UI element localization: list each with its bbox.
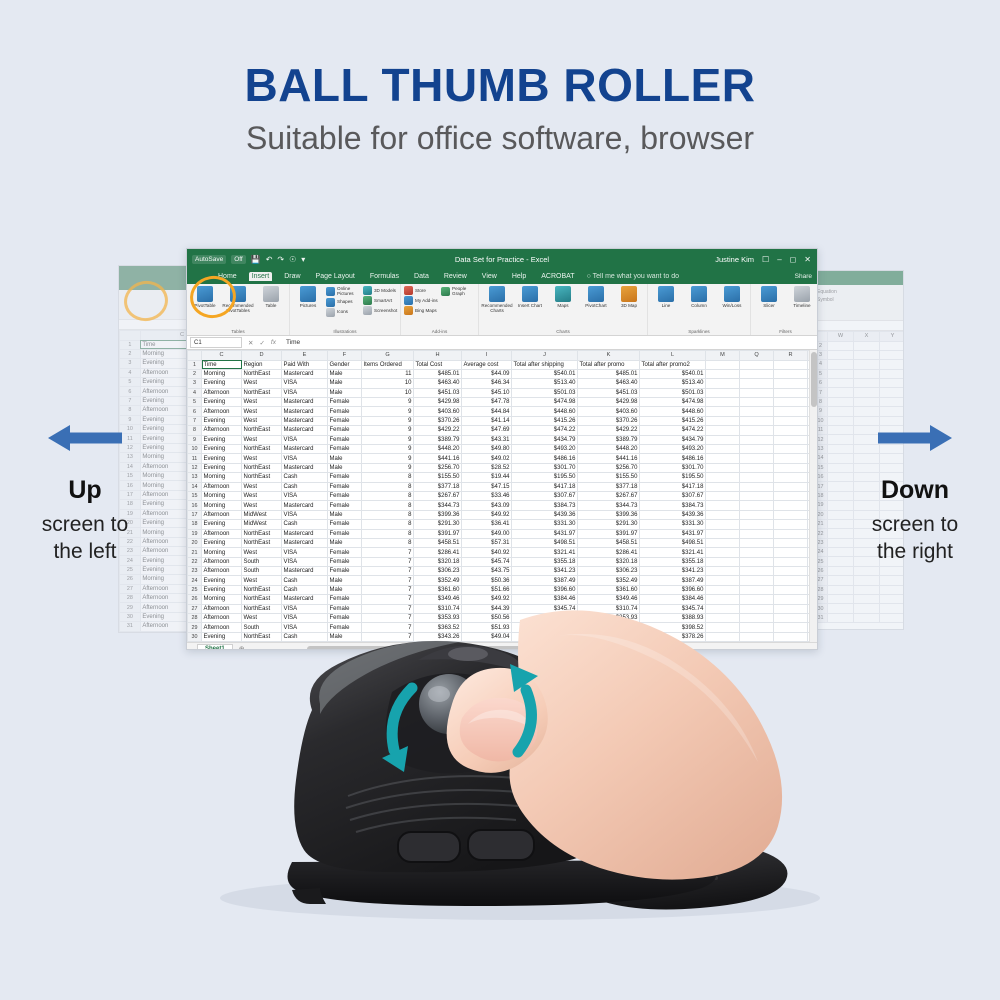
table-cell[interactable]	[706, 407, 740, 416]
table-cell[interactable]: $513.40	[640, 379, 706, 388]
table-cell[interactable]: 9	[362, 416, 414, 425]
table-cell[interactable]: $321.41	[640, 548, 706, 557]
table-cell[interactable]	[854, 369, 880, 378]
table-cell[interactable]: $387.49	[640, 576, 706, 585]
table-cell[interactable]: $331.30	[640, 520, 706, 529]
table-cell[interactable]: VISA	[282, 379, 328, 388]
table-cell[interactable]	[880, 397, 904, 406]
table-cell[interactable]	[828, 369, 854, 378]
table-row[interactable]: 25EveningNorthEastCashMale7$361.60$51.66…	[188, 585, 818, 594]
table-cell[interactable]: Female	[328, 557, 362, 566]
table-cell[interactable]: Morning	[202, 491, 242, 500]
table-cell[interactable]	[740, 567, 774, 576]
table-cell[interactable]: Evening	[202, 576, 242, 585]
table-cell[interactable]: $45.74	[462, 557, 512, 566]
table-cell[interactable]	[774, 491, 808, 500]
ribbon-tab-review[interactable]: Review	[441, 272, 470, 281]
table-cell[interactable]: $384.73	[512, 501, 578, 510]
table-cell[interactable]: $45.10	[462, 388, 512, 397]
table-cell[interactable]: Afternoon	[202, 510, 242, 519]
table-cell[interactable]: $43.31	[462, 435, 512, 444]
table-cell[interactable]: NorthEast	[242, 388, 282, 397]
table-cell[interactable]: $46.34	[462, 379, 512, 388]
row-header-8[interactable]: 8	[120, 406, 141, 415]
row-header-25[interactable]: 25	[120, 565, 141, 574]
table-cell[interactable]	[880, 566, 904, 575]
table-cell[interactable]	[854, 379, 880, 388]
table-cell[interactable]: $431.97	[640, 529, 706, 538]
table-cell[interactable]: $320.18	[414, 557, 462, 566]
vertical-scrollbar[interactable]	[809, 350, 817, 642]
ribbon[interactable]: PivotTableRecommended PivotTablesTableTa…	[187, 284, 817, 336]
row-header-2[interactable]: 2	[120, 349, 141, 358]
user-name[interactable]: Justine Kim	[715, 255, 754, 264]
table-cell[interactable]: $387.49	[512, 576, 578, 585]
table-cell[interactable]	[774, 501, 808, 510]
table-cell[interactable]	[740, 426, 774, 435]
table-cell[interactable]	[828, 360, 854, 369]
table-cell[interactable]	[828, 379, 854, 388]
table-cell[interactable]: Evening	[202, 463, 242, 472]
table-cell[interactable]: Female	[328, 473, 362, 482]
table-row[interactable]: 5EveningWestMastercardFemale9$429.98$47.…	[188, 398, 818, 407]
ribbon-button-shapes[interactable]: Shapes	[326, 298, 360, 307]
table-cell[interactable]	[740, 482, 774, 491]
table-cell[interactable]: $306.23	[578, 567, 640, 576]
table-cell[interactable]	[706, 369, 740, 378]
table-row[interactable]: 22AfternoonSouthVISAFemale7$320.18$45.74…	[188, 557, 818, 566]
table-cell[interactable]	[706, 491, 740, 500]
column-title-cell[interactable]: Items Ordered	[362, 360, 414, 369]
table-cell[interactable]	[706, 557, 740, 566]
table-cell[interactable]: NorthEast	[242, 473, 282, 482]
column-header-I[interactable]: I	[462, 351, 512, 361]
ribbon-button-online-pictures[interactable]: Online Pictures	[326, 286, 360, 297]
table-cell[interactable]: $439.36	[640, 510, 706, 519]
row-header-9[interactable]: 9	[188, 435, 202, 444]
table-cell[interactable]: 8	[362, 538, 414, 547]
table-cell[interactable]: Evening	[202, 435, 242, 444]
table-cell[interactable]: $49.80	[462, 445, 512, 454]
table-row[interactable]: 27	[814, 576, 904, 585]
table-row[interactable]: 23AfternoonSouthMastercardFemale7$306.23…	[188, 567, 818, 576]
ribbon-tab-insert[interactable]: Insert	[249, 272, 273, 281]
table-cell[interactable]: $415.26	[512, 416, 578, 425]
table-cell[interactable]: $57.31	[462, 538, 512, 547]
table-cell[interactable]: South	[242, 557, 282, 566]
table-cell[interactable]: Female	[328, 520, 362, 529]
ribbon-button-recommended-pivottables[interactable]: Recommended PivotTables	[223, 286, 253, 314]
table-cell[interactable]: $321.41	[512, 548, 578, 557]
table-cell[interactable]: West	[242, 407, 282, 416]
table-cell[interactable]	[774, 557, 808, 566]
table-cell[interactable]: $377.18	[414, 482, 462, 491]
table-cell[interactable]: VISA	[282, 435, 328, 444]
ribbon-tab-bar[interactable]: HomeInsertDrawPage LayoutFormulasDataRev…	[187, 269, 817, 284]
table-cell[interactable]: $448.60	[512, 407, 578, 416]
table-cell[interactable]	[774, 482, 808, 491]
table-cell[interactable]	[740, 491, 774, 500]
table-cell[interactable]: $341.23	[640, 567, 706, 576]
table-cell[interactable]: VISA	[282, 548, 328, 557]
row-header-3[interactable]: 3	[188, 379, 202, 388]
table-cell[interactable]	[740, 416, 774, 425]
table-cell[interactable]: $417.18	[640, 482, 706, 491]
table-cell[interactable]	[774, 463, 808, 472]
table-cell[interactable]: $540.01	[512, 369, 578, 378]
table-cell[interactable]: $458.51	[578, 538, 640, 547]
ribbon-button-smartart[interactable]: SmartArt	[363, 296, 397, 305]
table-cell[interactable]: 7	[362, 567, 414, 576]
table-cell[interactable]	[854, 350, 880, 359]
table-cell[interactable]: $474.98	[512, 398, 578, 407]
table-cell[interactable]: $493.20	[640, 445, 706, 454]
table-cell[interactable]: West	[242, 576, 282, 585]
table-cell[interactable]	[828, 341, 854, 350]
row-header-5[interactable]: 5	[188, 398, 202, 407]
table-row[interactable]: 19AfternoonNorthEastMastercardFemale8$39…	[188, 529, 818, 538]
table-cell[interactable]: 10	[362, 388, 414, 397]
table-cell[interactable]: 9	[362, 407, 414, 416]
table-cell[interactable]	[774, 567, 808, 576]
table-cell[interactable]: $399.36	[414, 510, 462, 519]
table-cell[interactable]: $28.52	[462, 463, 512, 472]
table-cell[interactable]	[854, 407, 880, 416]
table-cell[interactable]	[706, 538, 740, 547]
table-cell[interactable]: Female	[328, 482, 362, 491]
table-cell[interactable]	[740, 538, 774, 547]
table-row[interactable]: 18EveningMidWestCashFemale8$291.30$36.41…	[188, 520, 818, 529]
table-cell[interactable]: $415.26	[640, 416, 706, 425]
table-cell[interactable]: Male	[328, 369, 362, 378]
table-cell[interactable]: $498.51	[640, 538, 706, 547]
column-header-W[interactable]: W	[828, 332, 854, 342]
table-cell[interactable]: 8	[362, 473, 414, 482]
table-cell[interactable]: $498.51	[512, 538, 578, 547]
table-cell[interactable]: $195.50	[512, 473, 578, 482]
column-title-cell[interactable]: Total after shipping	[512, 360, 578, 369]
table-cell[interactable]: $40.92	[462, 548, 512, 557]
table-cell[interactable]	[774, 379, 808, 388]
table-row[interactable]: 13MorningNorthEastCashFemale8$155.50$19.…	[188, 473, 818, 482]
row-header-12[interactable]: 12	[188, 463, 202, 472]
column-title-cell[interactable]: Gender	[328, 360, 362, 369]
table-cell[interactable]	[880, 576, 904, 585]
column-header-X[interactable]: X	[854, 332, 880, 342]
row-header-25[interactable]: 25	[188, 585, 202, 594]
column-title-cell[interactable]: Total after promo2	[640, 360, 706, 369]
table-cell[interactable]	[880, 341, 904, 350]
table-cell[interactable]: VISA	[282, 491, 328, 500]
grid-corner[interactable]	[188, 351, 202, 361]
table-cell[interactable]: $286.41	[414, 548, 462, 557]
row-header-2[interactable]: 2	[188, 369, 202, 378]
table-cell[interactable]: $291.30	[414, 520, 462, 529]
table-row[interactable]: 2	[814, 341, 904, 350]
row-header-18[interactable]: 18	[188, 520, 202, 529]
table-cell[interactable]: $448.20	[414, 445, 462, 454]
table-cell[interactable]	[740, 379, 774, 388]
table-cell[interactable]: $429.98	[578, 398, 640, 407]
table-cell[interactable]: $44.84	[462, 407, 512, 416]
table-cell[interactable]: $417.18	[512, 482, 578, 491]
table-cell[interactable]: MidWest	[242, 510, 282, 519]
table-cell[interactable]: $43.75	[462, 567, 512, 576]
table-cell[interactable]	[740, 445, 774, 454]
table-cell[interactable]	[774, 369, 808, 378]
ribbon-tab-data[interactable]: Data	[411, 272, 432, 281]
redo-icon[interactable]: ↷	[277, 255, 284, 264]
table-cell[interactable]: Male	[328, 463, 362, 472]
column-title-cell[interactable]	[706, 360, 740, 369]
table-cell[interactable]: $540.01	[640, 369, 706, 378]
table-cell[interactable]: Female	[328, 501, 362, 510]
table-cell[interactable]	[774, 473, 808, 482]
table-cell[interactable]: $49.00	[462, 529, 512, 538]
table-cell[interactable]: Morning	[202, 501, 242, 510]
table-cell[interactable]: Female	[328, 491, 362, 500]
table-cell[interactable]	[706, 388, 740, 397]
table-cell[interactable]: Mastercard	[282, 463, 328, 472]
table-cell[interactable]: Female	[328, 529, 362, 538]
table-cell[interactable]: $474.22	[512, 426, 578, 435]
table-cell[interactable]: $361.60	[414, 585, 462, 594]
ribbon-button-pivotchart[interactable]: PivotChart	[581, 286, 611, 308]
table-cell[interactable]: Afternoon	[202, 567, 242, 576]
table-cell[interactable]: 11	[362, 369, 414, 378]
table-cell[interactable]: $403.60	[414, 407, 462, 416]
table-cell[interactable]: West	[242, 548, 282, 557]
table-row[interactable]: 12EveningNorthEastMastercardMale9$256.70…	[188, 463, 818, 472]
table-cell[interactable]: Female	[328, 407, 362, 416]
tell-me-box[interactable]: ○ Tell me what you want to do	[587, 273, 679, 280]
table-cell[interactable]: Mastercard	[282, 398, 328, 407]
table-cell[interactable]	[854, 388, 880, 397]
ribbon-button-maps[interactable]: Maps	[548, 286, 578, 308]
table-cell[interactable]: $384.73	[640, 501, 706, 510]
table-cell[interactable]	[774, 416, 808, 425]
table-cell[interactable]: West	[242, 501, 282, 510]
ribbon-tab-help[interactable]: Help	[509, 272, 529, 281]
table-cell[interactable]: $391.97	[578, 529, 640, 538]
ribbon-button-pivottable[interactable]: PivotTable	[190, 286, 220, 308]
ribbon-button-people-graph[interactable]: People Graph	[441, 286, 475, 297]
table-cell[interactable]: Afternoon	[202, 407, 242, 416]
row-header-4[interactable]: 4	[120, 368, 141, 377]
table-row[interactable]: 8AfternoonNorthEastMastercardFemale9$429…	[188, 426, 818, 435]
table-row[interactable]: 2MorningNorthEastMastercardMale11$485.01…	[188, 369, 818, 378]
table-cell[interactable]	[740, 585, 774, 594]
table-cell[interactable]: $286.41	[578, 548, 640, 557]
table-cell[interactable]: 9	[362, 463, 414, 472]
table-cell[interactable]: Female	[328, 445, 362, 454]
table-cell[interactable]: $396.60	[640, 585, 706, 594]
row-header-27[interactable]: 27	[120, 584, 141, 593]
table-cell[interactable]: Evening	[202, 520, 242, 529]
table-cell[interactable]: NorthEast	[242, 369, 282, 378]
column-header-H[interactable]: H	[414, 351, 462, 361]
table-cell[interactable]: $429.98	[414, 398, 462, 407]
table-cell[interactable]	[880, 379, 904, 388]
column-title-cell[interactable]: Region	[242, 360, 282, 369]
table-cell[interactable]: NorthEast	[242, 426, 282, 435]
table-cell[interactable]: VISA	[282, 557, 328, 566]
column-title-cell[interactable]: Total Cost	[414, 360, 462, 369]
table-cell[interactable]: Mastercard	[282, 538, 328, 547]
ribbon-button-icons[interactable]: Icons	[326, 308, 360, 317]
table-cell[interactable]: Afternoon	[202, 426, 242, 435]
table-cell[interactable]	[706, 520, 740, 529]
table-cell[interactable]: Evening	[202, 416, 242, 425]
table-cell[interactable]: 8	[362, 510, 414, 519]
table-cell[interactable]: $47.15	[462, 482, 512, 491]
ribbon-button-column[interactable]: Column	[684, 286, 714, 308]
row-header-1[interactable]: 1	[120, 340, 141, 349]
row-header-6[interactable]: 6	[120, 387, 141, 396]
column-header-D[interactable]: D	[242, 351, 282, 361]
table-cell[interactable]: NorthEast	[242, 463, 282, 472]
ribbon-display-icon[interactable]: ☐	[762, 255, 769, 264]
table-cell[interactable]: 10	[362, 379, 414, 388]
column-title-cell[interactable]	[774, 360, 808, 369]
table-cell[interactable]	[774, 398, 808, 407]
table-cell[interactable]	[740, 454, 774, 463]
column-header-G[interactable]: G	[362, 351, 414, 361]
ribbon-button-screenshot[interactable]: Screenshot	[363, 306, 397, 315]
ribbon-tab-acrobat[interactable]: ACROBAT	[538, 272, 577, 281]
table-row[interactable]: 3EveningWestVISAMale10$463.40$46.34$513.…	[188, 379, 818, 388]
undo-icon[interactable]: ↶	[266, 255, 273, 264]
table-cell[interactable]	[774, 510, 808, 519]
table-cell[interactable]: $486.16	[512, 454, 578, 463]
table-cell[interactable]: Evening	[202, 585, 242, 594]
fx-icon[interactable]: fx	[271, 339, 276, 347]
table-cell[interactable]	[774, 426, 808, 435]
ribbon-button-3d-map[interactable]: 3D Map	[614, 286, 644, 308]
table-cell[interactable]: 8	[362, 491, 414, 500]
column-header-L[interactable]: L	[640, 351, 706, 361]
table-row[interactable]: 7EveningWestMastercardFemale9$370.26$41.…	[188, 416, 818, 425]
ribbon-button-bing-maps[interactable]: Bing Maps	[404, 306, 438, 315]
ribbon-button-store[interactable]: Store	[404, 286, 438, 295]
table-cell[interactable]: $44.09	[462, 369, 512, 378]
ribbon-tab-view[interactable]: View	[479, 272, 500, 281]
table-cell[interactable]: West	[242, 416, 282, 425]
table-row[interactable]: 17AfternoonMidWestVISAMale8$399.36$49.92…	[188, 510, 818, 519]
table-cell[interactable]: Cash	[282, 520, 328, 529]
table-cell[interactable]	[880, 585, 904, 594]
table-cell[interactable]: $47.69	[462, 426, 512, 435]
ribbon-button-pictures[interactable]: Pictures	[293, 286, 323, 308]
table-cell[interactable]: 7	[362, 576, 414, 585]
table-cell[interactable]	[854, 576, 880, 585]
table-cell[interactable]: Afternoon	[202, 529, 242, 538]
table-cell[interactable]: $431.97	[512, 529, 578, 538]
column-header-R[interactable]: R	[774, 351, 808, 361]
table-cell[interactable]	[774, 407, 808, 416]
table-cell[interactable]: Mastercard	[282, 407, 328, 416]
formula-bar[interactable]: C1 ✕ ✓ fx Time	[187, 336, 817, 350]
table-cell[interactable]: $355.18	[512, 557, 578, 566]
table-cell[interactable]: NorthEast	[242, 529, 282, 538]
row-header-17[interactable]: 17	[188, 510, 202, 519]
table-cell[interactable]: $306.23	[414, 567, 462, 576]
table-cell[interactable]: West	[242, 454, 282, 463]
table-row[interactable]: 1TimeRegionPaid WithGenderItems OrderedT…	[188, 360, 818, 369]
table-cell[interactable]: Male	[328, 388, 362, 397]
table-cell[interactable]: $49.02	[462, 454, 512, 463]
table-cell[interactable]: Evening	[202, 538, 242, 547]
table-cell[interactable]: 7	[362, 585, 414, 594]
table-cell[interactable]: $307.67	[640, 491, 706, 500]
table-cell[interactable]	[740, 529, 774, 538]
column-header-M[interactable]: M	[706, 351, 740, 361]
table-cell[interactable]: Male	[328, 585, 362, 594]
column-header-Y[interactable]: Y	[880, 332, 904, 342]
table-row[interactable]: 20EveningNorthEastMastercardMale8$458.51…	[188, 538, 818, 547]
excel-window[interactable]: AutoSave Off 💾 ↶ ↷ ☉ ▾ Data Set for Prac…	[186, 248, 818, 650]
table-cell[interactable]: VISA	[282, 388, 328, 397]
ribbon-button-my-add-ins[interactable]: My Add-ins	[404, 296, 438, 305]
cancel-icon[interactable]: ✕	[248, 339, 253, 347]
table-cell[interactable]: Cash	[282, 585, 328, 594]
table-cell[interactable]	[706, 585, 740, 594]
table-cell[interactable]: Mastercard	[282, 567, 328, 576]
table-cell[interactable]: $291.30	[578, 520, 640, 529]
table-cell[interactable]	[740, 473, 774, 482]
vertical-scroll-thumb[interactable]	[811, 352, 817, 407]
table-cell[interactable]: $256.70	[578, 463, 640, 472]
table-cell[interactable]	[740, 388, 774, 397]
table-cell[interactable]	[740, 576, 774, 585]
table-cell[interactable]: $33.46	[462, 491, 512, 500]
table-cell[interactable]: $370.26	[578, 416, 640, 425]
ribbon-tab-draw[interactable]: Draw	[281, 272, 303, 281]
table-cell[interactable]	[774, 576, 808, 585]
table-cell[interactable]: MidWest	[242, 520, 282, 529]
table-cell[interactable]: Female	[328, 567, 362, 576]
table-cell[interactable]	[706, 454, 740, 463]
table-cell[interactable]: Afternoon	[202, 557, 242, 566]
table-row[interactable]: 8	[814, 397, 904, 406]
table-cell[interactable]: Cash	[282, 576, 328, 585]
table-cell[interactable]: $344.73	[414, 501, 462, 510]
column-header-K[interactable]: K	[578, 351, 640, 361]
table-cell[interactable]: $51.66	[462, 585, 512, 594]
autosave-label[interactable]: AutoSave	[192, 255, 226, 264]
table-cell[interactable]	[774, 388, 808, 397]
row-header-22[interactable]: 22	[188, 557, 202, 566]
table-cell[interactable]: $429.22	[578, 426, 640, 435]
table-row[interactable]: 3	[814, 350, 904, 359]
table-cell[interactable]	[706, 435, 740, 444]
column-header-C[interactable]: C	[202, 351, 242, 361]
table-cell[interactable]	[854, 585, 880, 594]
table-cell[interactable]	[706, 416, 740, 425]
table-cell[interactable]: $320.18	[578, 557, 640, 566]
row-header-8[interactable]: 8	[188, 426, 202, 435]
table-cell[interactable]	[706, 379, 740, 388]
table-cell[interactable]: $344.73	[578, 501, 640, 510]
ribbon-tab-page-layout[interactable]: Page Layout	[313, 272, 358, 281]
table-cell[interactable]: NorthEast	[242, 445, 282, 454]
table-cell[interactable]: Female	[328, 435, 362, 444]
table-cell[interactable]: $341.23	[512, 567, 578, 576]
worksheet-grid[interactable]: CDEFGHIJKLMQRST1TimeRegionPaid WithGende…	[187, 350, 817, 642]
table-cell[interactable]: $501.03	[640, 388, 706, 397]
table-cell[interactable]: $434.79	[512, 435, 578, 444]
ribbon-button-table[interactable]: Table	[256, 286, 286, 308]
